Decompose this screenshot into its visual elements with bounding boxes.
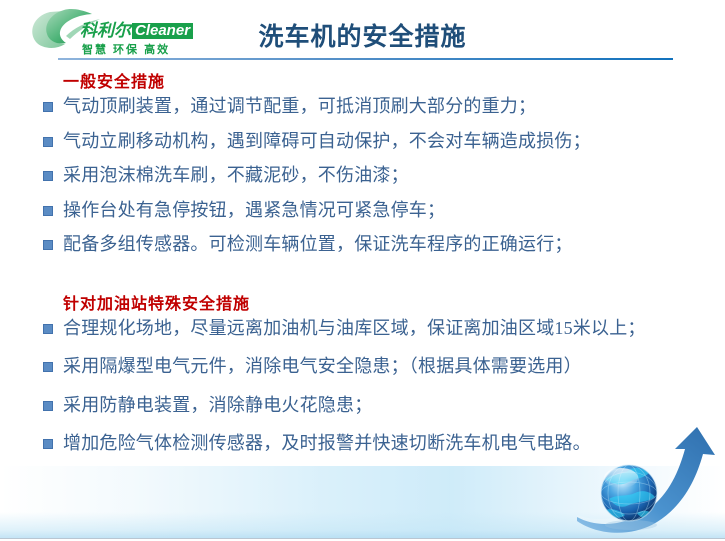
title-divider-rule: [58, 58, 673, 60]
page-title: 洗车机的安全措施: [0, 17, 725, 53]
bullet-square-icon: [43, 401, 53, 411]
list-item-text: 增加危险气体检测传感器，及时报警并快速切断洗车机电气电路。: [63, 433, 591, 453]
slide-body: 一般安全措施 气动顶刷装置，通过调节配重，可抵消顶刷大部分的重力； 气动立刷移动…: [0, 68, 725, 466]
bottom-gradient-band: [0, 466, 725, 538]
list-item: 增加危险气体检测传感器，及时报警并快速切断洗车机电气电路。: [0, 431, 725, 457]
list-item-text: 气动顶刷装置，通过调节配重，可抵消顶刷大部分的重力；: [63, 96, 536, 116]
list-item-text: 采用防静电装置，消除静电火花隐患；: [63, 395, 372, 415]
bullet-square-icon: [43, 324, 53, 334]
bottom-gradient-band-lower: [0, 512, 725, 538]
section-heading-gas-station: 针对加油站特殊安全措施: [0, 274, 725, 314]
bullet-square-icon: [43, 206, 53, 216]
list-item: 操作台处有急停按钮，遇紧急情况可紧急停车；: [0, 198, 725, 224]
bullet-square-icon: [43, 137, 53, 147]
list-item: 采用防静电装置，消除静电火花隐患；: [0, 393, 725, 419]
section-heading-general: 一般安全措施: [0, 68, 725, 92]
bullet-list-general: 气动顶刷装置，通过调节配重，可抵消顶刷大部分的重力； 气动立刷移动机构，遇到障碍…: [0, 94, 725, 258]
slide: 科利尔Cleaner 智慧 环保 高效 洗车机的安全措施 一般安全措施 气动顶刷…: [0, 0, 725, 541]
list-item: 气动立刷移动机构，遇到障碍可自动保护，不会对车辆造成损伤；: [0, 129, 725, 155]
bottom-divider-rule: [0, 538, 725, 539]
list-item: 气动顶刷装置，通过调节配重，可抵消顶刷大部分的重力；: [0, 94, 725, 120]
list-item: 配备多组传感器。可检测车辆位置，保证洗车程序的正确运行；: [0, 232, 725, 258]
list-item-text: 合理规化场地，尽量远离加油机与油库区域，保证离加油区域15米以上；: [63, 318, 646, 338]
bullet-list-gas-station: 合理规化场地，尽量远离加油机与油库区域，保证离加油区域15米以上； 采用隔爆型电…: [0, 316, 725, 457]
bullet-square-icon: [43, 439, 53, 449]
list-item: 采用隔爆型电气元件，消除电气安全隐患；（根据具体需要选用）: [0, 354, 725, 380]
bullet-square-icon: [43, 102, 53, 112]
list-item: 采用泡沫棉洗车刷，不藏泥砂，不伤油漆；: [0, 163, 725, 189]
list-item-text: 采用隔爆型电气元件，消除电气安全隐患；（根据具体需要选用）: [63, 356, 582, 376]
list-item-text: 操作台处有急停按钮，遇紧急情况可紧急停车；: [63, 200, 445, 220]
bullet-square-icon: [43, 171, 53, 181]
bullet-square-icon: [43, 240, 53, 250]
list-item: 合理规化场地，尽量远离加油机与油库区域，保证离加油区域15米以上；: [0, 316, 725, 342]
list-item-text: 配备多组传感器。可检测车辆位置，保证洗车程序的正确运行；: [63, 234, 573, 254]
list-item-text: 采用泡沫棉洗车刷，不藏泥砂，不伤油漆；: [63, 165, 409, 185]
list-item-text: 气动立刷移动机构，遇到障碍可自动保护，不会对车辆造成损伤；: [63, 131, 591, 151]
bullet-square-icon: [43, 362, 53, 372]
